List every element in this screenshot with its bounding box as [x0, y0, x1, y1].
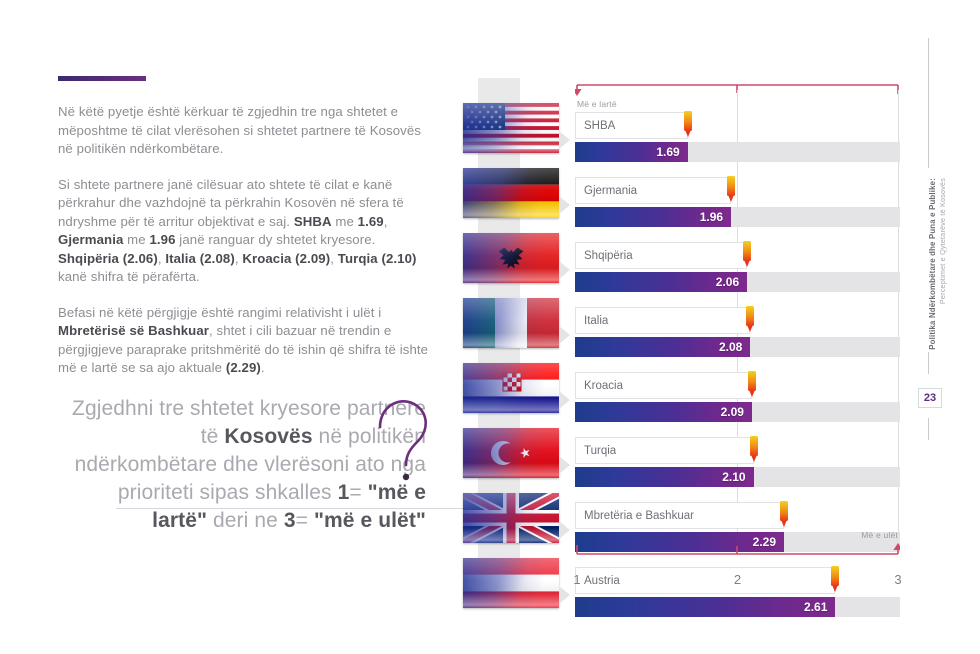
country-name-label: SHBA: [576, 120, 615, 132]
margin-rule: [928, 38, 929, 168]
paragraph-1: Në këtë pyetje është kërkuar të zgjedhin…: [58, 103, 430, 159]
flag-row: [463, 428, 575, 486]
value-marker-icon: [746, 370, 757, 400]
value-bar: 2.08: [575, 337, 750, 357]
tick-label-1: 1: [573, 572, 580, 587]
country-name-box: Mbretëria e Bashkuar: [575, 502, 784, 529]
paragraph-3: Befasi në këtë përgjigje është rangimi r…: [58, 304, 430, 378]
side-running-title: Politika Ndërkombëtare dhe Puna e Publik…: [928, 178, 947, 350]
left-text-column: Në këtë pyetje është kërkuar të zgjedhin…: [58, 76, 430, 535]
flag-column: [463, 103, 575, 623]
value-bar: 2.61: [575, 597, 835, 617]
chart-row: SHBA1.69: [575, 112, 900, 170]
value-marker-icon: [745, 305, 756, 335]
flag-albania-icon: [463, 233, 559, 283]
value-label: 2.08: [719, 340, 750, 354]
chart-row: Shqipëria2.06: [575, 242, 900, 300]
margin-rule: [928, 352, 929, 374]
chart-row: Gjermania1.96: [575, 177, 900, 235]
page-root: Në këtë pyetje është kërkuar të zgjedhin…: [0, 0, 980, 654]
flag-italy-icon: [463, 298, 559, 348]
accent-rule: [58, 76, 146, 81]
country-name-box: Gjermania: [575, 177, 731, 204]
paragraph-2: Si shtete partnere janë cilësuar ato sht…: [58, 176, 430, 287]
country-name-box: Italia: [575, 307, 750, 334]
flag-row: [463, 233, 575, 291]
country-name-label: Gjermania: [576, 185, 637, 197]
flag-pointer-icon: [559, 196, 570, 214]
question-quote-text: Zgjedhni tre shtetet kryesore partnere t…: [58, 395, 430, 535]
axis-low-label: Më e ulët: [861, 530, 898, 540]
value-label: 2.10: [722, 470, 753, 484]
flag-row: [463, 493, 575, 551]
chart-row: Italia2.08: [575, 307, 900, 365]
footer-divider: [116, 508, 488, 509]
chart-row: Kroacia2.09: [575, 372, 900, 430]
flag-pointer-icon: [559, 326, 570, 344]
country-name-box: Shqipëria: [575, 242, 747, 269]
country-name-label: Shqipëria: [576, 250, 633, 262]
value-label: 1.96: [700, 210, 731, 224]
flag-uk-icon: [463, 493, 559, 543]
side-title-line1: Politika Ndërkombëtare dhe Puna e Publik…: [928, 178, 937, 350]
value-bar: 1.69: [575, 142, 688, 162]
value-label: 2.61: [804, 600, 835, 614]
chart-tick-labels: 123: [575, 572, 900, 592]
question-quote-block: Zgjedhni tre shtetet kryesore partnere t…: [58, 395, 430, 535]
flag-row: [463, 168, 575, 226]
value-marker-icon: [748, 435, 759, 465]
tick-label-3: 3: [894, 572, 901, 587]
value-bar: 2.06: [575, 272, 747, 292]
value-bar: 1.96: [575, 207, 731, 227]
axis-high-label: Më e lartë: [577, 99, 617, 109]
page-number: 23: [918, 388, 942, 408]
flag-pointer-icon: [559, 131, 570, 149]
chart-bottom-axis: [575, 542, 900, 558]
country-name-label: Mbretëria e Bashkuar: [576, 510, 694, 522]
value-marker-icon: [726, 175, 737, 205]
value-bar: 2.09: [575, 402, 752, 422]
country-name-label: Italia: [576, 315, 608, 327]
value-marker-icon: [742, 240, 753, 270]
country-name-label: Turqia: [576, 445, 616, 457]
flag-row: [463, 558, 575, 616]
value-label: 2.09: [721, 405, 752, 419]
value-bar: 2.10: [575, 467, 754, 487]
side-title-line2: Perceptimet e Qytetarëve të Kosovës: [938, 178, 947, 350]
flag-turkey-icon: [463, 428, 559, 478]
flag-croatia-icon: [463, 363, 559, 413]
flag-pointer-icon: [559, 261, 570, 279]
margin-rule: [928, 418, 929, 440]
flag-pointer-icon: [559, 586, 570, 604]
value-marker-icon: [682, 110, 693, 140]
value-label: 2.06: [716, 275, 747, 289]
flag-row: [463, 363, 575, 421]
country-name-box: SHBA: [575, 112, 688, 139]
value-marker-icon: [779, 500, 790, 530]
flag-pointer-icon: [559, 391, 570, 409]
value-label: 1.69: [656, 145, 687, 159]
country-name-box: Kroacia: [575, 372, 752, 399]
chart-row: Turqia2.10: [575, 437, 900, 495]
tick-label-2: 2: [734, 572, 741, 587]
flag-pointer-icon: [559, 521, 570, 539]
flag-row: [463, 103, 575, 161]
country-name-label: Kroacia: [576, 380, 623, 392]
flag-row: [463, 298, 575, 356]
flag-austria-icon: [463, 558, 559, 608]
flag-germany-icon: [463, 168, 559, 218]
flag-usa-icon: [463, 103, 559, 153]
bar-chart: Më e lartë SHBA1.69Gjermania1.96Shqipëri…: [575, 78, 900, 598]
flag-pointer-icon: [559, 456, 570, 474]
country-name-box: Turqia: [575, 437, 754, 464]
